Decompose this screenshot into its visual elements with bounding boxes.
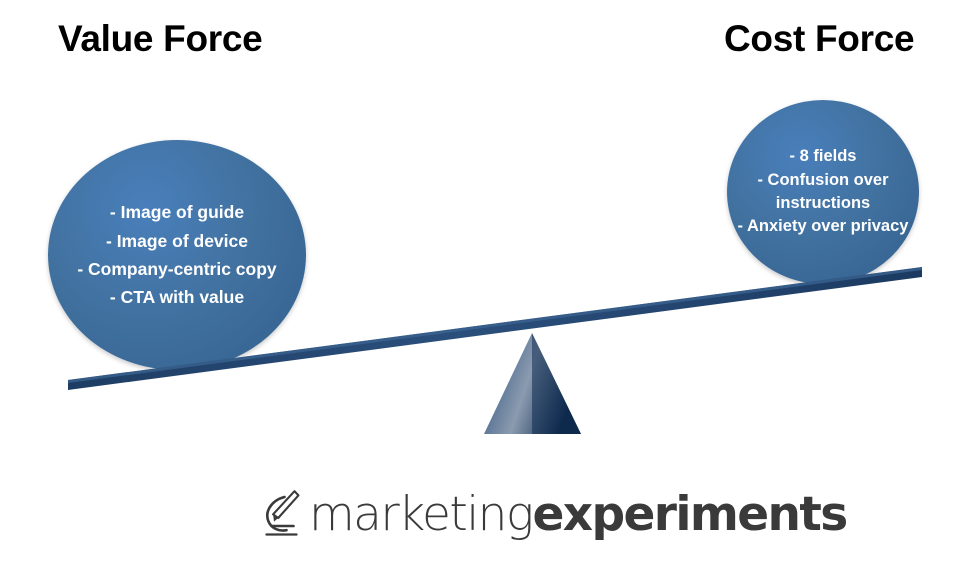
microscope-pen-icon [262, 488, 308, 540]
value-item-3: - CTA with value [54, 283, 300, 311]
value-force-bubble: - Image of guide - Image of device - Com… [48, 140, 306, 370]
marketingexperiments-logo: marketingexperiments [262, 485, 847, 543]
cost-force-bubble: - 8 fields - Confusion over instructions… [727, 100, 919, 284]
logo-wordmark: marketingexperiments [309, 490, 847, 538]
heading-cost-force: Cost Force [724, 18, 914, 60]
value-item-0: - Image of guide [54, 198, 300, 226]
slide-canvas: Value Force Cost Force - Image of guide … [0, 0, 974, 570]
logo-word-marketing: marketing [309, 487, 532, 542]
logo-word-experiments: experiments [532, 487, 846, 542]
value-item-2: - Company-centric copy [54, 255, 300, 283]
cost-item-1: - Confusion over instructions [735, 169, 911, 216]
heading-value-force: Value Force [58, 18, 262, 60]
cost-item-2: - Anxiety over privacy [735, 215, 911, 238]
fulcrum-triangle-shade [532, 333, 581, 434]
cost-item-0: - 8 fields [735, 145, 911, 168]
fulcrum-triangle [484, 333, 581, 434]
value-item-1: - Image of device [54, 227, 300, 255]
